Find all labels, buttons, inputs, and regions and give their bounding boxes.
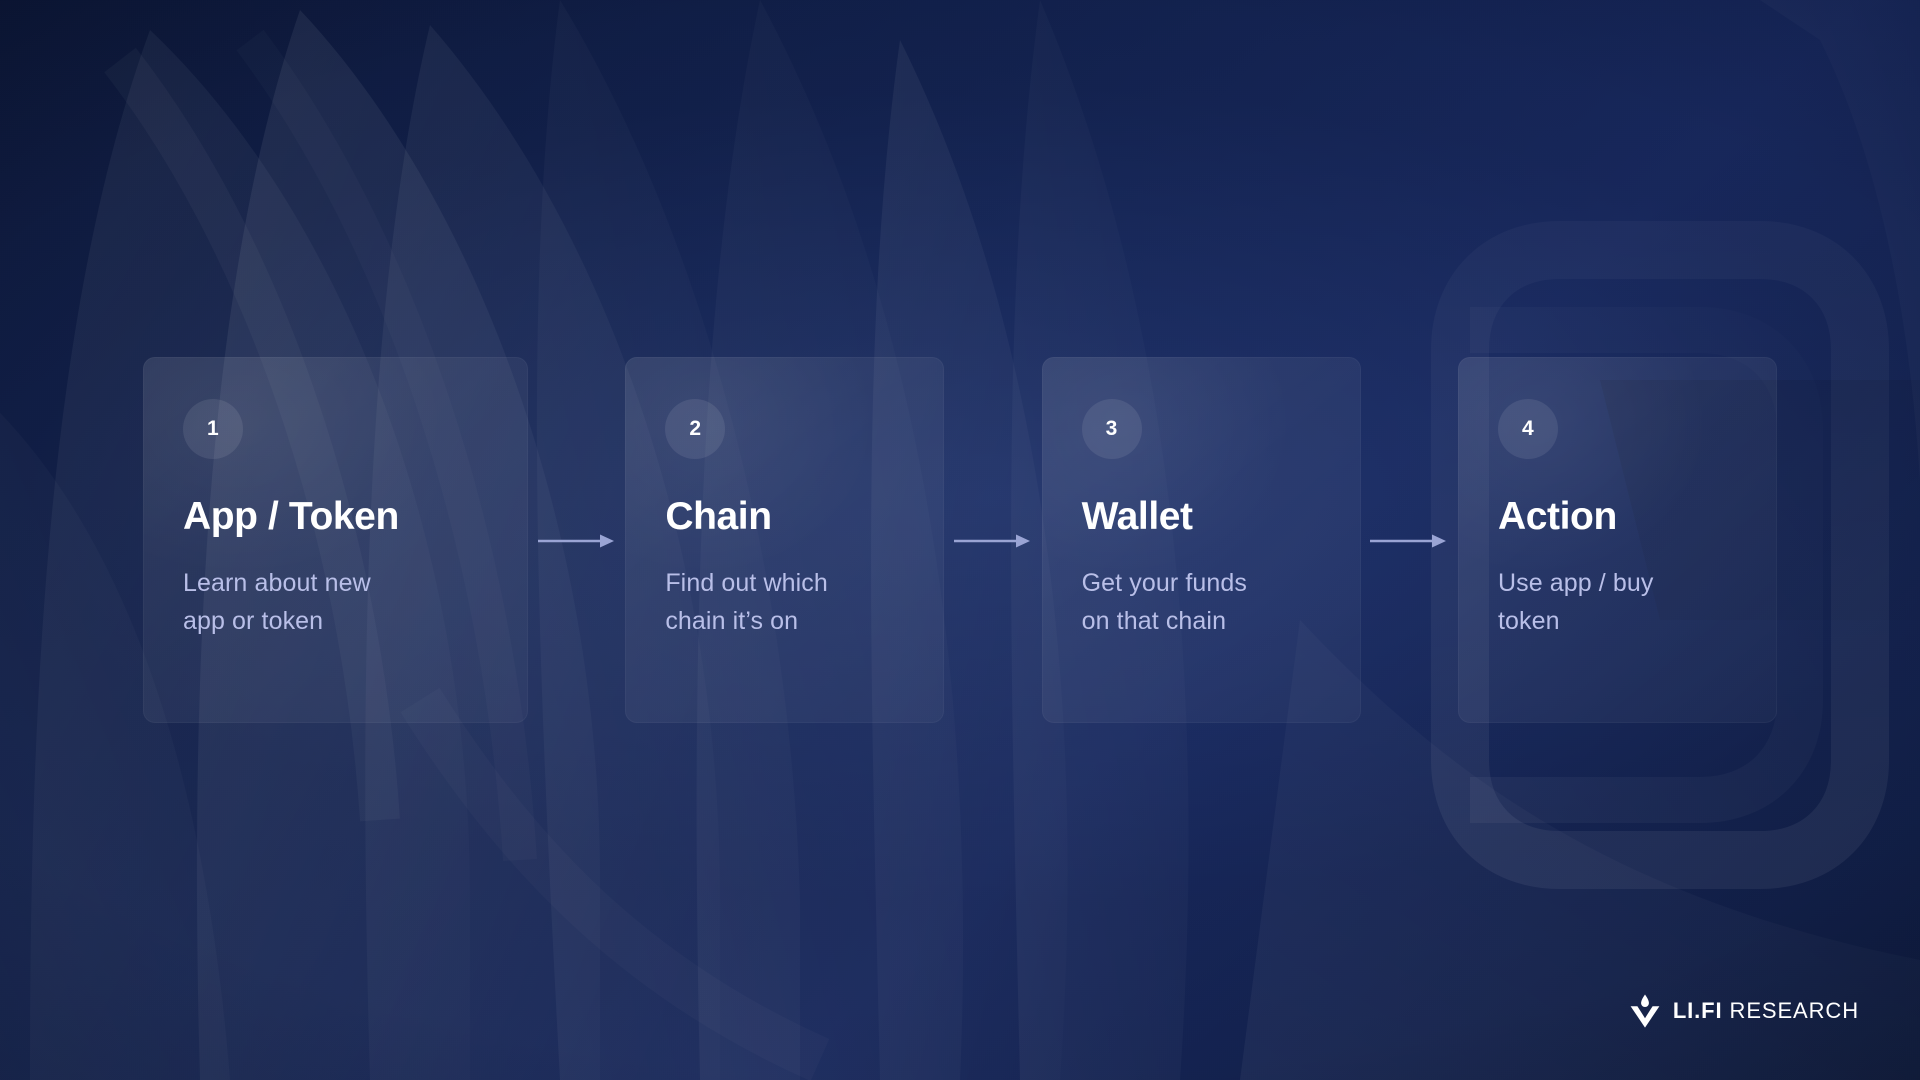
step-description-2-line1: Find out which	[665, 569, 828, 597]
step-number-badge-3: 3	[1082, 399, 1142, 459]
step-description-4: Use app / buy token	[1498, 564, 1737, 640]
brand-name-primary: LI.FI	[1673, 998, 1723, 1023]
arrow-right-icon-1	[536, 530, 618, 552]
step-description-1-line2: app or token	[183, 607, 323, 635]
step-number-2: 2	[689, 417, 701, 441]
step-description-4-line1: Use app / buy	[1498, 569, 1654, 597]
slide-canvas: 1 App / Token Learn about new app or tok…	[0, 0, 1920, 1080]
step-number-badge-4: 4	[1498, 399, 1558, 459]
step-number-3: 3	[1106, 417, 1118, 441]
lifi-chevron-logo-icon	[1630, 994, 1660, 1028]
step-title-3: Wallet	[1082, 497, 1321, 538]
step-number-badge-1: 1	[183, 399, 243, 459]
step-description-2: Find out which chain it’s on	[665, 564, 904, 640]
step-description-2-line2: chain it’s on	[665, 607, 798, 635]
step-number-4: 4	[1522, 417, 1534, 441]
brand-name: LI.FI RESEARCH	[1673, 1000, 1859, 1022]
step-title-4: Action	[1498, 497, 1737, 538]
step-title-2: Chain	[665, 497, 904, 538]
step-description-3-line1: Get your funds	[1082, 569, 1247, 597]
step-card-2[interactable]: 2 Chain Find out which chain it’s on	[625, 357, 944, 723]
step-number-badge-2: 2	[665, 399, 725, 459]
step-title-1: App / Token	[183, 497, 488, 538]
arrow-right-icon-2	[952, 530, 1034, 552]
step-card-4[interactable]: 4 Action Use app / buy token	[1458, 357, 1777, 723]
step-number-1: 1	[207, 417, 219, 441]
step-description-1: Learn about new app or token	[183, 564, 443, 640]
brand-name-suffix: RESEARCH	[1730, 998, 1859, 1023]
brand-lockup: LI.FI RESEARCH	[1630, 994, 1859, 1028]
step-description-3-line2: on that chain	[1082, 607, 1226, 635]
step-card-3[interactable]: 3 Wallet Get your funds on that chain	[1042, 357, 1361, 723]
arrow-right-icon-3	[1368, 530, 1450, 552]
step-description-1-line1: Learn about new	[183, 569, 371, 597]
step-description-4-line2: token	[1498, 607, 1560, 635]
steps-flow: 1 App / Token Learn about new app or tok…	[143, 357, 1777, 723]
step-description-3: Get your funds on that chain	[1082, 564, 1321, 640]
step-card-1[interactable]: 1 App / Token Learn about new app or tok…	[143, 357, 528, 723]
